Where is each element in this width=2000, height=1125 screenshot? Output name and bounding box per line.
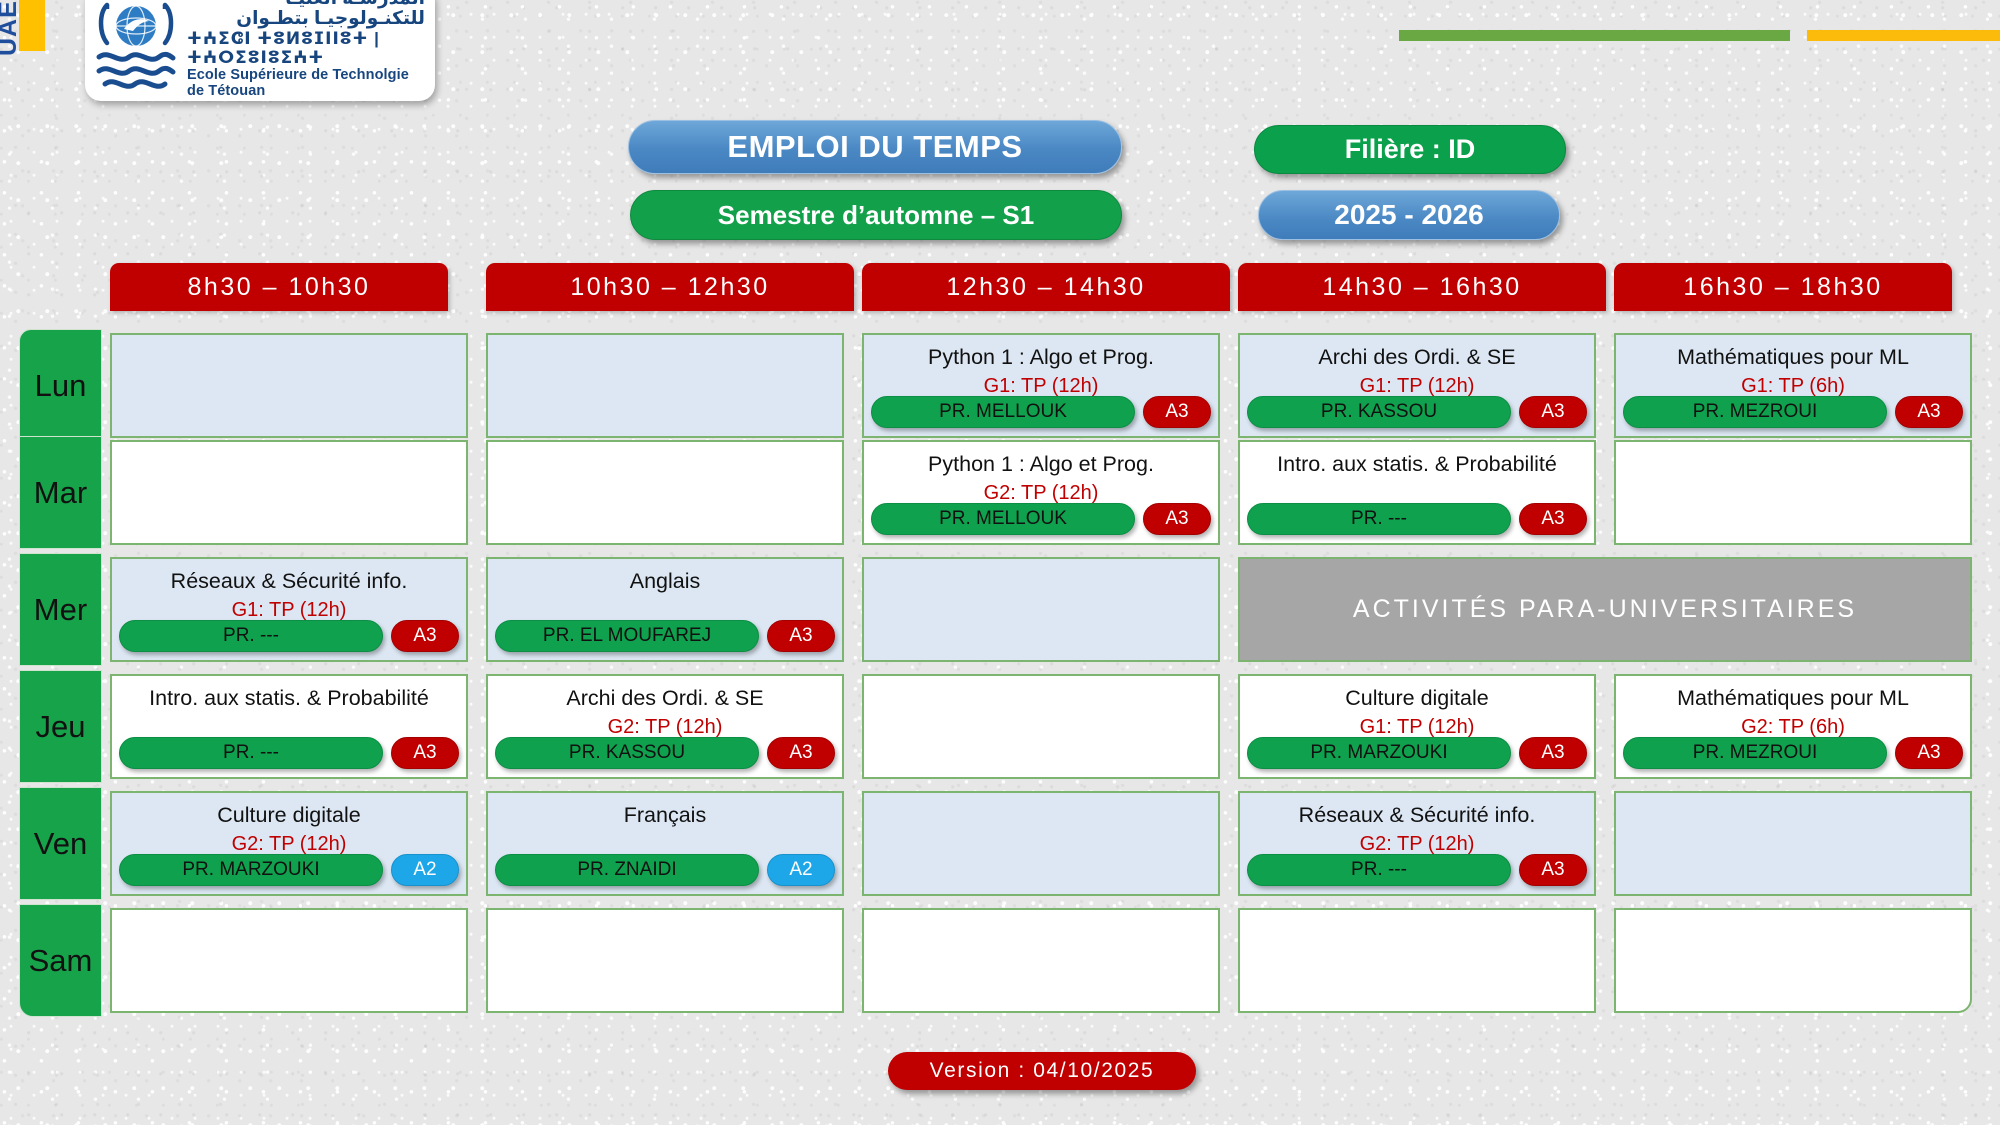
session-footer: PR. MEZROUIA3	[1623, 737, 1963, 769]
course-group: G1: TP (12h)	[1360, 375, 1475, 398]
professor-badge: PR. ---	[119, 620, 383, 652]
session-cell[interactable]: AnglaisPR. EL MOUFAREJA3	[486, 557, 844, 662]
session-footer: PR. MELLOUKA3	[871, 396, 1211, 428]
uae-yellow-bar	[19, 0, 45, 51]
session-footer: PR. ---A3	[1247, 854, 1587, 886]
session-cell[interactable]: Archi des Ordi. & SEG1: TP (12h)PR. KASS…	[1238, 333, 1596, 438]
professor-badge: PR. ---	[119, 737, 383, 769]
professor-badge: PR. MEZROUI	[1623, 737, 1887, 769]
empty-cell	[862, 557, 1220, 662]
session-footer: PR. MELLOUKA3	[871, 503, 1211, 535]
course-group: G2: TP (6h)	[1741, 716, 1845, 739]
course-title: Python 1 : Algo et Prog.	[928, 345, 1154, 370]
course-group: G1: TP (12h)	[1360, 716, 1475, 739]
day-label-mer: Mer	[19, 553, 102, 666]
logo-arabic-name: المدرسـة العليـا للتكنـولوجيـا بتطـوان	[187, 0, 425, 29]
page-title: EMPLOI DU TEMPS	[628, 120, 1122, 174]
professor-badge: PR. MARZOUKI	[119, 854, 383, 886]
session-cell[interactable]: Mathématiques pour MLG2: TP (6h)PR. MEZR…	[1614, 674, 1972, 779]
session-footer: PR. ---A3	[1247, 503, 1587, 535]
course-group: G1: TP (6h)	[1741, 375, 1845, 398]
session-footer: PR. EL MOUFAREJA3	[495, 620, 835, 652]
day-label-sam: Sam	[19, 904, 102, 1017]
room-badge: A3	[1143, 396, 1211, 428]
room-badge: A2	[767, 854, 835, 886]
time-slot-header: 16h30 – 18h30	[1614, 263, 1952, 311]
course-group: G2: TP (12h)	[1360, 833, 1475, 856]
course-group: G2: TP (12h)	[984, 482, 1099, 505]
day-label-ven: Ven	[19, 787, 102, 900]
session-cell[interactable]: Réseaux & Sécurité info.G2: TP (12h)PR. …	[1238, 791, 1596, 896]
professor-badge: PR. MEZROUI	[1623, 396, 1887, 428]
professor-badge: PR. MELLOUK	[871, 396, 1135, 428]
empty-cell	[110, 333, 468, 438]
session-footer: PR. ZNAIDIA2	[495, 854, 835, 886]
course-group: G1: TP (12h)	[232, 599, 347, 622]
session-cell[interactable]: Intro. aux statis. & ProbabilitéPR. ---A…	[1238, 440, 1596, 545]
activity-block: ACTIVITÉS PARA-UNIVERSITAIRES	[1238, 557, 1972, 662]
session-cell[interactable]: Mathématiques pour MLG1: TP (6h)PR. MEZR…	[1614, 333, 1972, 438]
day-label-lun: Lun	[19, 329, 102, 442]
session-footer: PR. KASSOUA3	[495, 737, 835, 769]
professor-badge: PR. KASSOU	[495, 737, 759, 769]
course-title: Intro. aux statis. & Probabilité	[149, 686, 429, 711]
course-group: G2: TP (12h)	[608, 716, 723, 739]
empty-cell	[1614, 908, 1972, 1013]
decorative-green-rule	[1399, 30, 1790, 41]
professor-badge: PR. ---	[1247, 854, 1511, 886]
course-title: Français	[624, 803, 706, 828]
time-slot-header: 8h30 – 10h30	[110, 263, 448, 311]
est-logo-icon	[93, 0, 179, 93]
logo-french-name: Ecole Supérieure de Technolgie de Tétoua…	[187, 67, 425, 99]
empty-cell	[862, 908, 1220, 1013]
uae-label: UAE	[0, 0, 20, 56]
empty-cell	[1614, 440, 1972, 545]
room-badge: A3	[1519, 737, 1587, 769]
session-footer: PR. ---A3	[119, 737, 459, 769]
empty-cell	[110, 440, 468, 545]
course-title: Mathématiques pour ML	[1677, 345, 1909, 370]
session-cell[interactable]: Intro. aux statis. & ProbabilitéPR. ---A…	[110, 674, 468, 779]
empty-cell	[486, 333, 844, 438]
course-title: Anglais	[630, 569, 701, 594]
course-title: Python 1 : Algo et Prog.	[928, 452, 1154, 477]
room-badge: A3	[1519, 396, 1587, 428]
room-badge: A3	[1895, 396, 1963, 428]
session-cell[interactable]: Réseaux & Sécurité info.G1: TP (12h)PR. …	[110, 557, 468, 662]
session-cell[interactable]: Culture digitaleG1: TP (12h)PR. MARZOUKI…	[1238, 674, 1596, 779]
empty-cell	[110, 908, 468, 1013]
course-title: Réseaux & Sécurité info.	[1299, 803, 1536, 828]
session-footer: PR. KASSOUA3	[1247, 396, 1587, 428]
room-badge: A3	[1895, 737, 1963, 769]
session-footer: PR. MEZROUIA3	[1623, 396, 1963, 428]
course-title: Culture digitale	[1345, 686, 1488, 711]
professor-badge: PR. ZNAIDI	[495, 854, 759, 886]
empty-cell	[486, 440, 844, 545]
time-slot-header: 14h30 – 16h30	[1238, 263, 1606, 311]
empty-cell	[862, 674, 1220, 779]
empty-cell	[1238, 908, 1596, 1013]
professor-badge: PR. MELLOUK	[871, 503, 1135, 535]
version-badge: Version : 04/10/2025	[888, 1052, 1196, 1090]
empty-cell	[1614, 791, 1972, 896]
course-title: Culture digitale	[217, 803, 360, 828]
session-cell[interactable]: Python 1 : Algo et Prog.G1: TP (12h)PR. …	[862, 333, 1220, 438]
course-group: G1: TP (12h)	[984, 375, 1099, 398]
session-cell[interactable]: Culture digitaleG2: TP (12h)PR. MARZOUKI…	[110, 791, 468, 896]
logo-tifinagh-name: ⵜⵄⵉⵛⵏ ⵜⵓⵍⵓⵊⵏⵏⵓⵜ | ⵜⵄⵔⵉⵓⵏⵓⵉⵄⵜ	[187, 29, 425, 67]
course-group: G2: TP (12h)	[232, 833, 347, 856]
session-footer: PR. MARZOUKIA3	[1247, 737, 1587, 769]
empty-cell	[862, 791, 1220, 896]
time-slot-header: 10h30 – 12h30	[486, 263, 854, 311]
academic-year-badge: 2025 - 2026	[1258, 190, 1560, 240]
professor-badge: PR. ---	[1247, 503, 1511, 535]
day-label-mar: Mar	[19, 436, 102, 549]
course-title: Mathématiques pour ML	[1677, 686, 1909, 711]
school-logo-card: المدرسـة العليـا للتكنـولوجيـا بتطـوان ⵜ…	[85, 0, 435, 101]
room-badge: A3	[767, 620, 835, 652]
session-cell[interactable]: FrançaisPR. ZNAIDIA2	[486, 791, 844, 896]
day-label-jeu: Jeu	[19, 670, 102, 783]
session-footer: PR. MARZOUKIA2	[119, 854, 459, 886]
session-footer: PR. ---A3	[119, 620, 459, 652]
session-cell[interactable]: Archi des Ordi. & SEG2: TP (12h)PR. KASS…	[486, 674, 844, 779]
room-badge: A3	[1143, 503, 1211, 535]
room-badge: A3	[767, 737, 835, 769]
filiere-badge: Filière : ID	[1254, 125, 1566, 174]
empty-cell	[486, 908, 844, 1013]
semester-badge: Semestre d’automne – S1	[630, 190, 1122, 240]
room-badge: A3	[1519, 503, 1587, 535]
room-badge: A3	[1519, 854, 1587, 886]
professor-badge: PR. MARZOUKI	[1247, 737, 1511, 769]
decorative-yellow-rule	[1807, 30, 2000, 41]
course-title: Archi des Ordi. & SE	[1318, 345, 1515, 370]
room-badge: A2	[391, 854, 459, 886]
room-badge: A3	[391, 620, 459, 652]
course-title: Archi des Ordi. & SE	[566, 686, 763, 711]
course-title: Intro. aux statis. & Probabilité	[1277, 452, 1557, 477]
session-cell[interactable]: Python 1 : Algo et Prog.G2: TP (12h)PR. …	[862, 440, 1220, 545]
professor-badge: PR. EL MOUFAREJ	[495, 620, 759, 652]
time-slot-header: 12h30 – 14h30	[862, 263, 1230, 311]
room-badge: A3	[391, 737, 459, 769]
course-title: Réseaux & Sécurité info.	[171, 569, 408, 594]
professor-badge: PR. KASSOU	[1247, 396, 1511, 428]
